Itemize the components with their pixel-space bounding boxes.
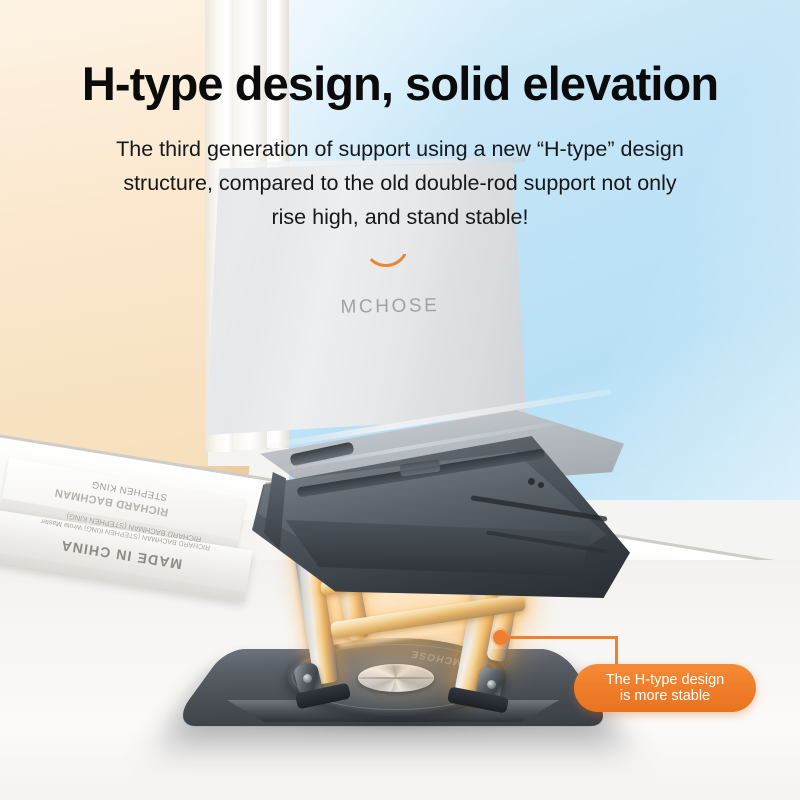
hinge-pin-left [303, 674, 312, 683]
book-stack: STEPHEN KING RICHARD BACHMAN RICHARD BAC… [0, 478, 262, 618]
laptop-port-round-1 [528, 478, 535, 485]
subtitle-line-2: structure, compared to the old double-ro… [0, 171, 800, 196]
hinge-pin-right [487, 680, 496, 689]
page-headline: H-type design, solid elevation [0, 56, 800, 111]
subtitle-line-3: rise high, and stand stable! [0, 205, 800, 230]
laptop-port-round-2 [538, 482, 544, 488]
brand-logo-text: MCHOSE [300, 294, 480, 319]
subtitle-line-1: The third generation of support using a … [0, 137, 800, 162]
product-marketing-image: STEPHEN KING RICHARD BACHMAN RICHARD BAC… [0, 0, 800, 800]
callout-badge-line-1: The H-type design [606, 672, 724, 688]
callout-badge-line-2: is more stable [620, 688, 710, 704]
callout-badge: The H-type design is more stable [574, 664, 756, 712]
callout-line-horizontal [503, 636, 618, 640]
